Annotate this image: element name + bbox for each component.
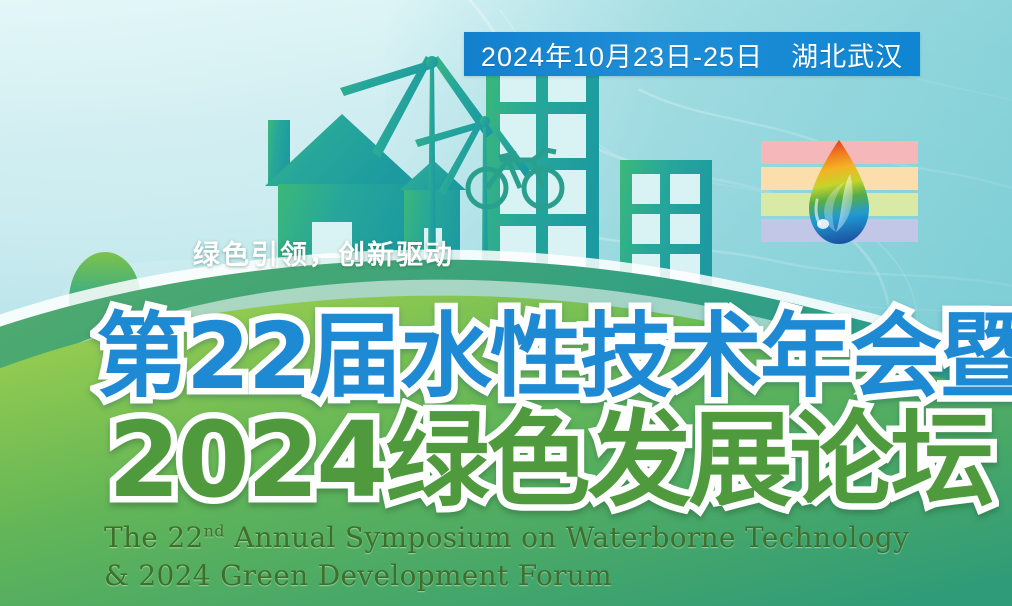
conference-poster: 2024年10月23日-25日 湖北武汉 [0, 0, 1012, 606]
english-subtitle: The 22nd Annual Symposium on Waterborne … [104, 519, 964, 595]
subtitle-ordinal: nd [204, 522, 225, 541]
subtitle-line1-rest: Annual Symposium on Waterborne Technolog… [225, 521, 909, 554]
main-title: 第22届水性技术年会暨 2024绿色发展论坛 [0, 0, 1012, 606]
subtitle-line2: & 2024 Green Development Forum [104, 557, 964, 595]
title-line-2: 2024绿色发展论坛 [108, 375, 991, 526]
subtitle-lead: The 22 [104, 521, 204, 554]
